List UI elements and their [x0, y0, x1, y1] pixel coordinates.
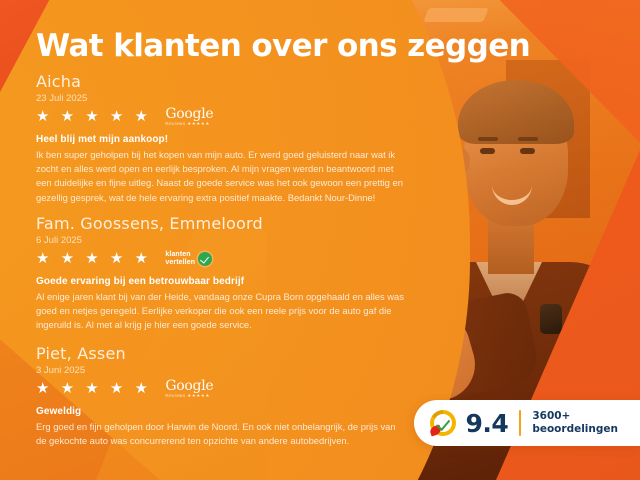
review-headline: Goede ervaring bij een betrouwbaar bedri… — [36, 276, 404, 287]
review-date: 6 Juli 2025 — [36, 235, 404, 246]
google-reviews-logo: Google Reviews ★★★★★ — [165, 107, 213, 127]
star-rating: ★ ★ ★ ★ ★ — [36, 381, 151, 396]
review-date: 23 Juli 2025 — [36, 93, 404, 104]
overall-score-value: 9.4 — [466, 409, 509, 438]
testimonials-poster: VDH Wat klanten over ons zeggen Aicha 23… — [0, 0, 640, 480]
google-reviews-logo: Google Reviews ★★★★★ — [165, 379, 213, 399]
klantenvertellen-logo: klanten vertellen — [165, 251, 212, 266]
verified-check-icon — [430, 410, 456, 436]
review-count-label: beoordelingen — [532, 423, 618, 436]
poster-content: Wat klanten over ons zeggen Aicha 23 Jul… — [0, 0, 640, 480]
review-body: Erg goed en fijn geholpen door Harwin de… — [36, 420, 404, 449]
review-headline: Geweldig — [36, 406, 404, 417]
rating-row: ★ ★ ★ ★ ★ Google Reviews ★★★★★ — [36, 379, 404, 399]
star-rating: ★ ★ ★ ★ ★ — [36, 251, 151, 266]
review-count: 3600+ beoordelingen — [532, 410, 618, 437]
review-body: Al enige jaren klant bij van der Heide, … — [36, 290, 404, 333]
checkmark-circle-icon — [198, 252, 212, 266]
rating-row: ★ ★ ★ ★ ★ klanten vertellen — [36, 249, 404, 269]
page-title: Wat klanten over ons zeggen — [36, 28, 530, 64]
reviewer-name: Fam. Goossens, Emmeloord — [36, 216, 404, 233]
review-body: Ik ben super geholpen bij het kopen van … — [36, 148, 404, 205]
google-reviews-subtext: Reviews ★★★★★ — [165, 394, 213, 399]
review-card: Aicha 23 Juli 2025 ★ ★ ★ ★ ★ Google Revi… — [36, 74, 404, 205]
google-reviews-subtext: Reviews ★★★★★ — [165, 122, 213, 127]
review-headline: Heel blij met mijn aankoop! — [36, 134, 404, 145]
score-divider — [519, 410, 521, 436]
review-card: Piet, Assen 3 Juni 2025 ★ ★ ★ ★ ★ Google… — [36, 346, 404, 448]
google-wordmark: Google — [165, 107, 213, 121]
klantenvertellen-line2: vertellen — [165, 259, 195, 266]
overall-score-badge: 9.4 3600+ beoordelingen — [414, 400, 640, 446]
badge-ribbon-icon — [428, 425, 441, 437]
review-card: Fam. Goossens, Emmeloord 6 Juli 2025 ★ ★… — [36, 216, 404, 333]
review-count-number: 3600+ — [532, 410, 618, 423]
klantenvertellen-wordmark: klanten vertellen — [165, 251, 195, 266]
reviewer-name: Piet, Assen — [36, 346, 404, 363]
google-wordmark: Google — [165, 379, 213, 393]
rating-row: ★ ★ ★ ★ ★ Google Reviews ★★★★★ — [36, 107, 404, 127]
star-rating: ★ ★ ★ ★ ★ — [36, 109, 151, 124]
review-date: 3 Juni 2025 — [36, 365, 404, 376]
reviewer-name: Aicha — [36, 74, 404, 91]
klantenvertellen-line1: klanten — [165, 251, 195, 258]
